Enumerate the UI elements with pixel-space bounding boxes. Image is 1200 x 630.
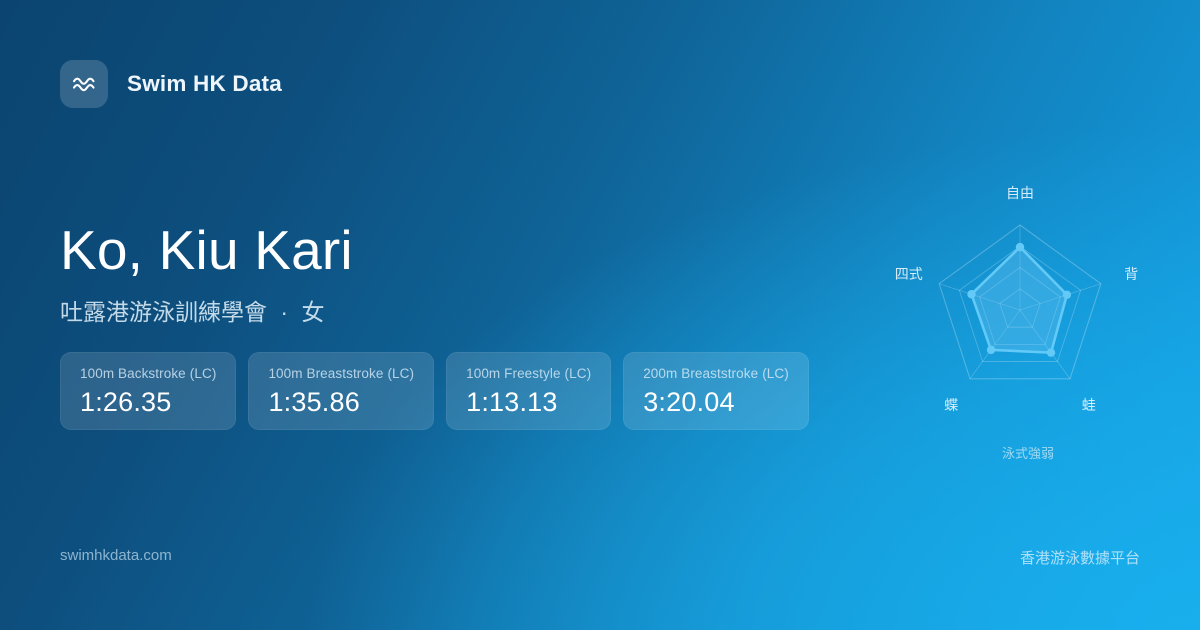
meta-separator: · <box>273 299 295 325</box>
stat-label: 100m Breaststroke(LC) <box>268 366 414 381</box>
stat-course: (LC) <box>190 366 217 381</box>
wave-icon <box>71 74 97 94</box>
best-times-list: 100m Backstroke(LC) 1:26.35 100m Breasts… <box>60 352 809 430</box>
stat-event: 100m Freestyle <box>466 366 560 381</box>
brand-name: Swim HK Data <box>127 71 282 97</box>
stat-label: 100m Freestyle(LC) <box>466 366 591 381</box>
stat-event: 200m Breaststroke <box>643 366 758 381</box>
list-item: 100m Breaststroke(LC) 1:35.86 <box>248 352 434 430</box>
stat-value: 3:20.04 <box>643 387 789 418</box>
stat-value: 1:35.86 <box>268 387 414 418</box>
list-item: 100m Backstroke(LC) 1:26.35 <box>60 352 236 430</box>
stat-event: 100m Breaststroke <box>268 366 383 381</box>
stat-label: 200m Breaststroke(LC) <box>643 366 789 381</box>
radar-label-im: 四式 <box>895 264 923 284</box>
hero-block: Ko, Kiu Kari 吐露港游泳訓練學會 · 女 <box>60 221 353 327</box>
club-name: 吐露港游泳訓練學會 <box>60 299 267 325</box>
radar-chart: 自由 背 蛙 蝶 四式 泳式強弱 <box>878 168 1178 468</box>
radar-label-back: 背 <box>1124 264 1138 284</box>
list-item: 200m Breaststroke(LC) 3:20.04 <box>623 352 809 430</box>
share-card: Swim HK Data Ko, Kiu Kari 吐露港游泳訓練學會 · 女 … <box>0 0 1200 630</box>
stat-course: (LC) <box>565 366 592 381</box>
stat-course: (LC) <box>387 366 414 381</box>
stat-value: 1:26.35 <box>80 387 216 418</box>
radar-label-breast: 蛙 <box>1082 395 1096 415</box>
radar-label-fly: 蝶 <box>944 395 958 415</box>
stat-value: 1:13.13 <box>466 387 591 418</box>
radar-label-free: 自由 <box>1006 183 1034 203</box>
stat-label: 100m Backstroke(LC) <box>80 366 216 381</box>
app-logo <box>60 60 108 108</box>
footer-tagline: 香港游泳數據平台 <box>1020 547 1140 568</box>
footer-site: swimhkdata.com <box>60 547 172 564</box>
brand-header: Swim HK Data <box>60 60 282 108</box>
radar-svg <box>878 168 1178 468</box>
stat-course: (LC) <box>762 366 789 381</box>
stat-event: 100m Backstroke <box>80 366 186 381</box>
radar-caption: 泳式強弱 <box>878 443 1178 462</box>
list-item: 100m Freestyle(LC) 1:13.13 <box>446 352 611 430</box>
athlete-meta: 吐露港游泳訓練學會 · 女 <box>60 293 353 327</box>
gender-label: 女 <box>301 299 324 325</box>
page-title: Ko, Kiu Kari <box>60 221 353 280</box>
